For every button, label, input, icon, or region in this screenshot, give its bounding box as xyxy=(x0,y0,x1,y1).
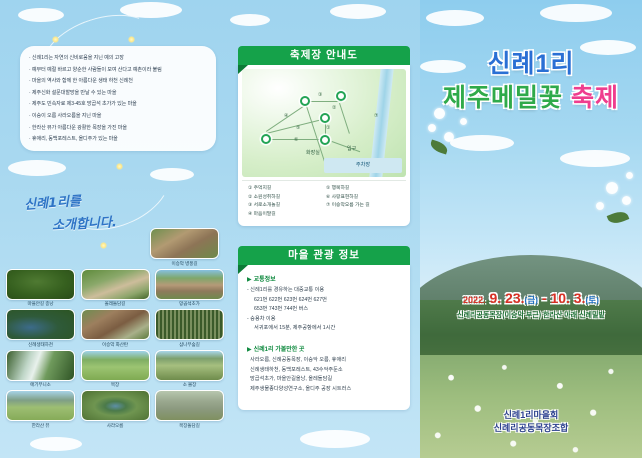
legend-item: ③ 서로소개놀길 xyxy=(248,202,322,211)
photo-caption: 이승악 화산탄 xyxy=(81,342,150,348)
cloud-decoration xyxy=(30,437,82,451)
legend-item: ⑦ 이승악오름 가는 길 xyxy=(326,202,400,211)
festival-date-start: 9. 23. xyxy=(489,290,524,306)
festival-date: 2022. 9. 23.(금) - 10. 3.(토) xyxy=(420,290,642,306)
buckwheat-blossom-icon xyxy=(626,172,633,179)
map-path-edge xyxy=(339,103,350,134)
photo-thumbnail xyxy=(6,350,75,381)
map-node[interactable] xyxy=(336,91,346,101)
village-tourism-info-panel: 마을 관광 정보 ▶교통정보 - 신례1리를 경유하는 대중교통 이용 621번… xyxy=(238,246,410,410)
map-label-restroom: 화장실 xyxy=(306,149,320,156)
intro-bullet: · 한라산 뷰가 아름다운 광활한 목장을 가진 마을 xyxy=(29,123,207,135)
map-label-entrance: 입구 xyxy=(347,145,356,152)
cloud-decoration xyxy=(8,160,66,176)
village-photo-grid: 이승악 병풍길 마을안길 종낭 올레돌담길 망곱석초가 신례생태하천 xyxy=(6,228,224,431)
photo-cell: 이승악 화산탄 xyxy=(81,309,150,348)
map-node[interactable] xyxy=(300,96,310,106)
attraction-line: 제주생물종다양성연구소, 올디주 공장 시트러스 xyxy=(247,385,401,395)
attraction-line: 사라오름, 신례공동목장, 이승악 오름, 휴애리 xyxy=(247,356,401,366)
map-edge-number: ① xyxy=(326,125,330,131)
festival-poster-panel: 신례1리 제주메밀꽃 축제 2022. 9. 23.(금) - 10. 3.(토… xyxy=(420,0,642,458)
cloud-decoration xyxy=(426,10,484,26)
cloud-decoration xyxy=(300,430,370,448)
festival-map-graphic[interactable]: ③ ② ④ ⑤ ⑥ ① ⑦ 화장실 입구 주차장 xyxy=(242,69,406,177)
photo-row: 신례생태하천 이승악 화산탄 삼나무숲길 xyxy=(6,309,224,348)
photo-cell: 사라오름 xyxy=(81,390,150,429)
map-edge-number: ⑤ xyxy=(296,125,300,131)
buckwheat-blossom-icon xyxy=(460,118,467,125)
sparkle-icon xyxy=(116,163,123,170)
photo-caption: 소 몰장 xyxy=(155,382,224,388)
organizer-line1: 신례1리마을회 xyxy=(420,408,642,421)
photo-cell: 목장 xyxy=(81,350,150,389)
photo-thumbnail xyxy=(6,390,75,421)
photo-thumbnail xyxy=(81,309,150,340)
buckwheat-blossom-icon xyxy=(444,132,454,142)
map-edge-number: ④ xyxy=(284,113,288,119)
poster-title-line1: 신례1리 xyxy=(420,52,642,77)
photo-row: 한라산 뷰 사라오름 목장돌담길 xyxy=(6,390,224,429)
photo-row: 애기무니소 목장 소 몰장 xyxy=(6,350,224,389)
buckwheat-blossom-icon xyxy=(428,124,436,132)
festival-map-body: ③ ② ④ ⑤ ⑥ ① ⑦ 화장실 입구 주차장 ① 주먹지길 ② 소원성취하길… xyxy=(238,65,410,226)
photo-thumbnail xyxy=(150,228,219,259)
map-legend-column-right: ⑤ 행복하길 ⑥ 사랑표현하길 ⑦ 이승악오름 가는 길 xyxy=(326,185,400,219)
map-path-edge xyxy=(306,101,342,102)
festival-date-year: 2022. xyxy=(463,295,486,305)
cloud-decoration xyxy=(540,4,612,22)
legend-item: ① 주먹지길 xyxy=(248,185,322,194)
photo-thumbnail xyxy=(155,390,224,421)
attraction-line: 신례생태하천, 동백포레스트, 43수악주둔소 xyxy=(247,366,401,376)
photo-thumbnail xyxy=(81,390,150,421)
map-parking-area: 주차장 xyxy=(324,158,402,173)
photo-cell: 삼나무숲길 xyxy=(155,309,224,348)
photo-cell: 한라산 뷰 xyxy=(6,390,75,429)
cloud-decoration xyxy=(450,135,514,151)
photo-thumbnail xyxy=(155,309,224,340)
photo-cell: 마을안길 종낭 xyxy=(6,269,75,308)
photo-thumbnail xyxy=(81,350,150,381)
intro-bullet: · 제주신화 설문대할망을 만날 수 있는 마을 xyxy=(29,88,207,100)
photo-caption: 삼나무숲길 xyxy=(155,342,224,348)
poster-title-line2: 제주메밀꽃 축제 xyxy=(420,86,642,111)
transport-line: 서귀포에서 15분, 제주공항에서 1시간 xyxy=(247,324,401,334)
map-edge-number: ② xyxy=(332,105,336,111)
intro-bullet: · 제주도 민속자료 제3-45호 망곱석 초가가 있는 마을 xyxy=(29,99,207,111)
map-edge-number: ③ xyxy=(318,92,322,98)
photo-cell: 망곱석초가 xyxy=(155,269,224,308)
intro-bullet: · 이승이 오름 사라오름을 지닌 마을 xyxy=(29,111,207,123)
sparkle-icon xyxy=(128,36,135,43)
map-edge-number: ⑥ xyxy=(294,137,298,143)
buckwheat-blossom-icon xyxy=(596,202,604,210)
festival-date-end-dow: (토) xyxy=(585,295,598,305)
legend-item: ⑤ 행복하길 xyxy=(326,185,400,194)
transport-line: - 승용차 이용 xyxy=(247,315,401,325)
intro-bullet: · 신례1리는 자연의 신비로움을 지닌 예의 고장 xyxy=(29,53,207,65)
festival-map-title: 축제장 안내도 xyxy=(238,46,410,65)
handwritten-headline-line1: 신례1리를 xyxy=(23,190,81,213)
photo-caption: 목장 xyxy=(81,382,150,388)
village-tourism-info-body: ▶교통정보 - 신례1리를 경유하는 대중교통 이용 621번 622번 623… xyxy=(238,265,410,410)
photo-caption: 올레돌담길 xyxy=(81,301,150,307)
buckwheat-blossom-icon xyxy=(606,182,618,194)
photo-thumbnail xyxy=(155,350,224,381)
map-label-parking: 주차장 xyxy=(324,158,402,173)
poster-title-green: 제주메밀꽃 xyxy=(443,84,563,112)
buckwheat-field xyxy=(420,355,642,458)
festival-date-dash: - xyxy=(542,290,547,306)
map-node[interactable] xyxy=(320,113,330,123)
intro-bullet: · 휴애리, 동백포레스트, 올디주가 있는 마을 xyxy=(29,134,207,146)
sparkle-icon xyxy=(52,36,59,43)
photo-caption: 신례생태하천 xyxy=(6,342,75,348)
photo-cell: 목장돌담길 xyxy=(155,390,224,429)
transport-section-heading: ▶교통정보 xyxy=(247,274,401,283)
photo-caption: 망곱석초가 xyxy=(155,301,224,307)
map-legend-column-left: ① 주먹지길 ② 소원성취하길 ③ 서로소개놀길 ④ 마음이말길 xyxy=(248,185,322,219)
village-intro-card: · 신례1리는 자연의 신비로움을 지닌 예의 고장 · 예부터 예절 바르고 … xyxy=(20,46,216,151)
photo-cell: 올레돌담길 xyxy=(81,269,150,308)
transport-line: 621번 622번 623번 624번 627번 xyxy=(247,296,401,306)
photo-caption: 이승악 병풍길 xyxy=(150,261,219,267)
transport-line: - 신례1리를 경유하는 대중교통 이용 xyxy=(247,286,401,296)
map-edge-number: ⑦ xyxy=(374,113,378,119)
photo-thumbnail xyxy=(155,269,224,300)
buckwheat-blossom-icon xyxy=(622,196,631,205)
cloud-decoration xyxy=(18,8,64,22)
map-node[interactable] xyxy=(261,134,271,144)
festival-map-panel: 축제장 안내도 ③ ② xyxy=(238,46,410,226)
festival-date-end: 10. 3. xyxy=(550,290,585,306)
photo-thumbnail xyxy=(81,269,150,300)
legend-item: ② 소원성취하길 xyxy=(248,194,322,203)
intro-bullet: · 예부터 예절 바르고 양순한 사람들이 모여 산다고 예촌이라 불림 xyxy=(29,65,207,77)
attractions-section-heading: ▶신례1리 가볼만한 곳 xyxy=(247,344,401,353)
map-node[interactable] xyxy=(320,135,330,145)
legend-item: ④ 마음이말길 xyxy=(248,211,322,220)
cloud-decoration xyxy=(560,150,630,167)
cloud-decoration xyxy=(330,4,386,19)
festival-location-subtitle: 신례리공동목장(이승악 부근) 한라산 아래 신례밀밭 xyxy=(420,310,642,320)
photo-thumbnail xyxy=(6,269,75,300)
photo-caption: 목장돌담길 xyxy=(155,423,224,429)
photo-cell: 애기무니소 xyxy=(6,350,75,389)
legend-item: ⑥ 사랑표현하길 xyxy=(326,194,400,203)
poster-title-pink: 축제 xyxy=(571,84,619,112)
photo-row: 마을안길 종낭 올레돌담길 망곱석초가 xyxy=(6,269,224,308)
photo-cell: 소 몰장 xyxy=(155,350,224,389)
village-tourism-info-title: 마을 관광 정보 xyxy=(238,246,410,265)
festival-date-start-dow: (금) xyxy=(525,295,538,305)
photo-caption: 사라오름 xyxy=(81,423,150,429)
photo-caption: 한라산 뷰 xyxy=(6,423,75,429)
triangle-bullet-icon: ▶ xyxy=(247,347,252,353)
organizer-line2: 신례리공동목장조합 xyxy=(420,421,642,434)
map-legend: ① 주먹지길 ② 소원성취하길 ③ 서로소개놀길 ④ 마음이말길 ⑤ 행복하길 … xyxy=(242,180,406,221)
photo-caption: 애기무니소 xyxy=(6,382,75,388)
cloud-decoration xyxy=(230,14,270,26)
transport-line: 653번 743번 744번 버스 xyxy=(247,305,401,315)
intro-bullet: · 마을의 역사와 함께 한 아름다운 생태 하천 신례천 xyxy=(29,76,207,88)
brochure-page: · 신례1리는 자연의 신비로움을 지닌 예의 고장 · 예부터 예절 바르고 … xyxy=(0,0,642,458)
photo-cell: 이승악 병풍길 xyxy=(150,228,219,267)
photo-thumbnail xyxy=(6,309,75,340)
photo-cell: 신례생태하천 xyxy=(6,309,75,348)
photo-caption: 마을안길 종낭 xyxy=(6,301,75,307)
triangle-bullet-icon: ▶ xyxy=(247,277,252,283)
attraction-line: 망곱석초가, 마을안길올낭, 올레돌담길 xyxy=(247,375,401,385)
photo-row: 이승악 병풍길 xyxy=(6,228,224,267)
